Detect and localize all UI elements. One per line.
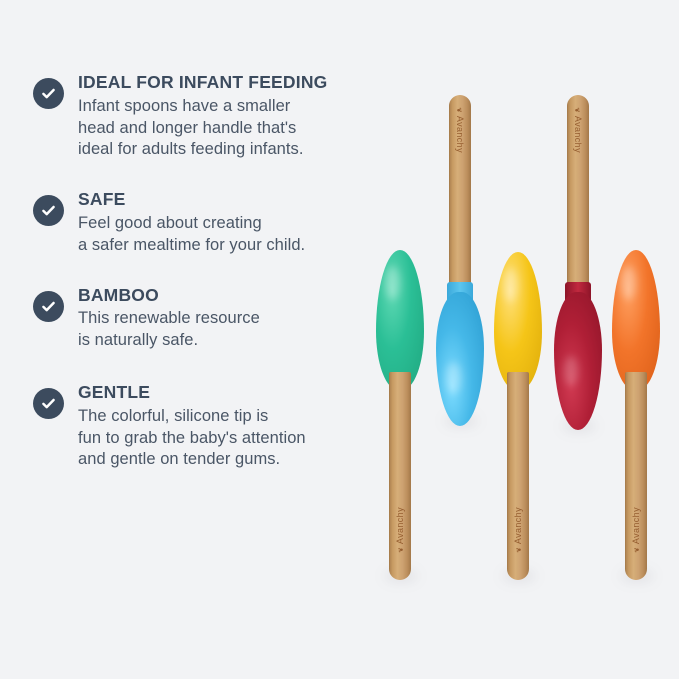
feature-title: SAFE <box>78 189 373 211</box>
spoon-handle-red <box>567 95 589 295</box>
feature-list: IDEAL FOR INFANT FEEDING Infant spoons h… <box>33 72 373 493</box>
check-circle-icon <box>33 388 64 419</box>
feature-body-line: Feel good about creating <box>78 213 373 235</box>
feature-title: BAMBOO <box>78 285 373 307</box>
feature-item-gentle: GENTLE The colorful, silicone tip is fun… <box>33 382 373 471</box>
feature-body-line: head and longer handle that's <box>78 118 373 140</box>
feature-body: This renewable resource is naturally saf… <box>78 308 373 352</box>
check-circle-icon <box>33 291 64 322</box>
spoon-bowl-orange <box>612 250 660 390</box>
spoon-bowl-green <box>376 250 424 390</box>
feature-body: Infant spoons have a smaller head and lo… <box>78 96 373 161</box>
feature-body-line: Infant spoons have a smaller <box>78 96 373 118</box>
spoon-bowl-yellow <box>494 252 542 390</box>
feature-item-safe: SAFE Feel good about creating a safer me… <box>33 189 373 256</box>
feature-body-line: fun to grab the baby's attention <box>78 428 373 450</box>
spoon-yellow: Avanchy <box>490 0 548 679</box>
feature-item-ideal-for-infant-feeding: IDEAL FOR INFANT FEEDING Infant spoons h… <box>33 72 373 161</box>
spoon-handle-orange <box>625 372 647 580</box>
spoon-blue: Avanchy <box>430 0 490 679</box>
spoon-orange: Avanchy <box>608 0 666 679</box>
spoon-bowl-blue <box>436 292 484 426</box>
spoon-handle-green <box>389 372 411 580</box>
feature-body-line: The colorful, silicone tip is <box>78 406 373 428</box>
feature-item-bamboo: BAMBOO This renewable resource is natura… <box>33 285 373 352</box>
infographic-canvas: IDEAL FOR INFANT FEEDING Infant spoons h… <box>0 0 679 679</box>
feature-text: IDEAL FOR INFANT FEEDING Infant spoons h… <box>78 72 373 161</box>
feature-text: GENTLE The colorful, silicone tip is fun… <box>78 382 373 471</box>
feature-text: SAFE Feel good about creating a safer me… <box>78 189 373 256</box>
spoon-red: Avanchy <box>548 0 608 679</box>
spoon-green: Avanchy <box>372 0 430 679</box>
bowl-highlight <box>621 266 636 300</box>
feature-body: Feel good about creating a safer mealtim… <box>78 213 373 257</box>
spoon-handle-yellow <box>507 372 529 580</box>
bowl-highlight <box>446 362 461 394</box>
feature-title: GENTLE <box>78 382 373 404</box>
feature-body-line: and gentle on tender gums. <box>78 449 373 471</box>
feature-title: IDEAL FOR INFANT FEEDING <box>78 72 373 94</box>
feature-body: The colorful, silicone tip is fun to gra… <box>78 406 373 471</box>
check-circle-icon <box>33 78 64 109</box>
bowl-highlight <box>564 356 578 386</box>
feature-text: BAMBOO This renewable resource is natura… <box>78 285 373 352</box>
bowl-highlight <box>503 268 518 302</box>
feature-body-line: This renewable resource <box>78 308 373 330</box>
feature-body-line: a safer mealtime for your child. <box>78 235 373 257</box>
bowl-highlight <box>385 266 400 300</box>
check-circle-icon <box>33 195 64 226</box>
spoon-handle-blue <box>449 95 471 295</box>
product-image-spoon-set: Avanchy Avanchy <box>372 0 679 679</box>
feature-body-line: is naturally safe. <box>78 330 373 352</box>
spoon-bowl-red <box>554 292 602 430</box>
feature-body-line: ideal for adults feeding infants. <box>78 139 373 161</box>
